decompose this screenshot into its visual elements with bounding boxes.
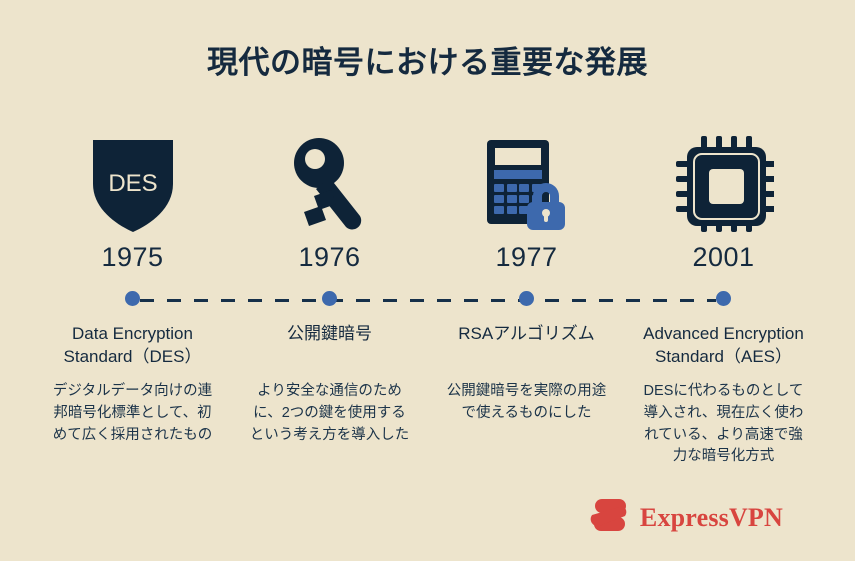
- timeline-entry-4: 2001 Advanced Encryption Standard（AES） D…: [625, 130, 822, 468]
- shield-des-icon: DES: [78, 130, 188, 234]
- microchip-icon: [669, 130, 779, 234]
- timeline-body: デジタルデータ向けの連邦暗号化標準として、初めて広く採用されたもの: [34, 381, 231, 446]
- timeline-body: DESに代わるものとして導入され、現在広く使われている、より高速で強力な暗号化方…: [625, 381, 822, 468]
- timeline-entry-2: 1976 公開鍵暗号 より安全な通信のために、2つの鍵を使用するという考え方を導…: [231, 130, 428, 446]
- timeline-heading: Data Encryption Standard（DES）: [34, 323, 231, 369]
- key-icon: [275, 130, 385, 234]
- expressvpn-logo-mark: [590, 498, 630, 537]
- timeline-dot-1: [125, 289, 140, 307]
- timeline-year: 2001: [692, 244, 754, 271]
- timeline-year: 1975: [101, 244, 163, 271]
- timeline-body: 公開鍵暗号を実際の用途で使えるものにした: [428, 381, 625, 425]
- timeline-year: 1977: [495, 244, 557, 271]
- timeline-dot-3: [519, 289, 534, 307]
- timeline-dot-2: [322, 289, 337, 307]
- calculator-lock-icon: [472, 130, 582, 234]
- timeline-body: より安全な通信のために、2つの鍵を使用するという考え方を導入した: [231, 381, 428, 446]
- timeline-heading: Advanced Encryption Standard（AES）: [625, 323, 822, 369]
- expressvpn-logo: ExpressVPN: [590, 498, 783, 537]
- shield-icon-label: DES: [108, 170, 157, 197]
- timeline-heading: RSAアルゴリズム: [454, 323, 598, 369]
- expressvpn-wordmark: ExpressVPN: [640, 505, 783, 531]
- page-title: 現代の暗号における重要な発展: [0, 44, 855, 81]
- timeline-entry-3: 1977 RSAアルゴリズム 公開鍵暗号を実際の用途で使えるものにした: [428, 130, 625, 425]
- timeline-entry-1: DES 1975 Data Encryption Standard（DES） デ…: [34, 130, 231, 446]
- timeline: DES 1975 Data Encryption Standard（DES） デ…: [34, 130, 824, 468]
- timeline-heading: 公開鍵暗号: [283, 323, 376, 369]
- timeline-dot-4: [716, 289, 731, 307]
- timeline-year: 1976: [298, 244, 360, 271]
